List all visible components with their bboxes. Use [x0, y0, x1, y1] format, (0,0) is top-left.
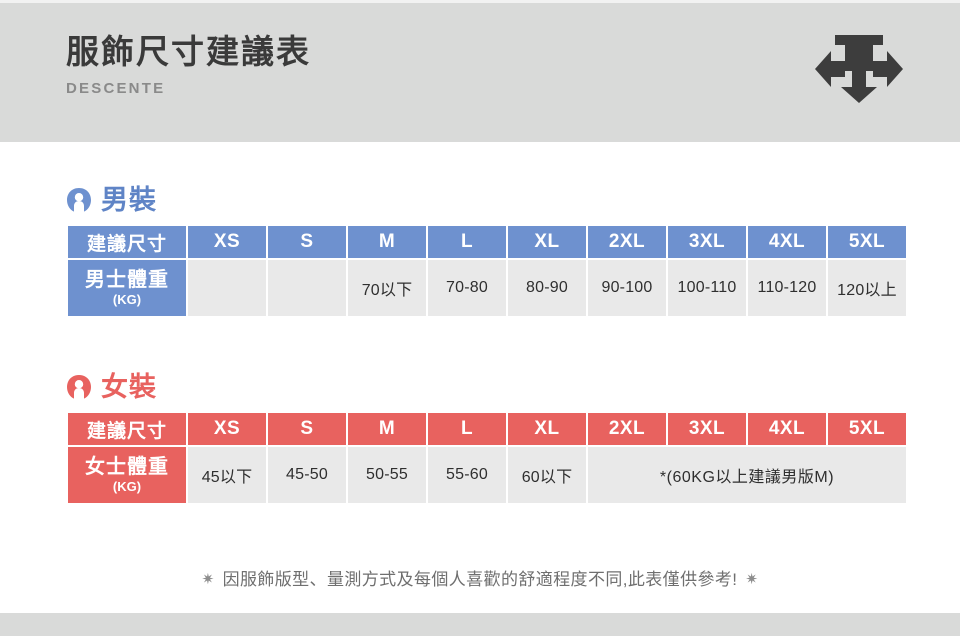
men-value-xs — [188, 260, 266, 316]
women-row-label: 女士體重 (KG) — [68, 447, 186, 503]
men-header-row: 建議尺寸 XS S M L XL 2XL 3XL 4XL 5XL — [68, 226, 906, 258]
header-titles: 服飾尺寸建議表 DESCENTE — [66, 33, 311, 97]
women-row-label-text: 女士體重 — [68, 456, 186, 478]
men-size-header: 建議尺寸 — [68, 226, 186, 258]
women-col-4xl: 4XL — [748, 413, 826, 445]
section-men-label: 男裝 — [101, 187, 157, 214]
women-weight-row: 女士體重 (KG) 45以下 45-50 50-55 55-60 60以下 *(… — [68, 447, 906, 503]
descente-arrows-logo — [813, 31, 905, 103]
size-chart-page: 服飾尺寸建議表 DESCENTE 男裝 — [0, 0, 960, 636]
section-men-header: 男裝 — [66, 182, 894, 218]
women-value-s: 45-50 — [268, 447, 346, 503]
women-col-3xl: 3XL — [668, 413, 746, 445]
women-value-xs: 45以下 — [188, 447, 266, 503]
women-value-xl: 60以下 — [508, 447, 586, 503]
men-value-m: 70以下 — [348, 260, 426, 316]
person-icon — [66, 187, 92, 213]
men-row-label-text: 男士體重 — [68, 269, 186, 291]
women-col-l: L — [428, 413, 506, 445]
women-merged-note: *(60KG以上建議男版M) — [588, 447, 906, 503]
women-size-table: 建議尺寸 XS S M L XL 2XL 3XL 4XL 5XL — [66, 411, 908, 505]
men-col-xl: XL — [508, 226, 586, 258]
men-col-s: S — [268, 226, 346, 258]
men-value-4xl: 110-120 — [748, 260, 826, 316]
women-col-xs: XS — [188, 413, 266, 445]
section-women-header: 女裝 — [66, 369, 894, 405]
section-women-label: 女裝 — [101, 374, 157, 401]
women-size-header: 建議尺寸 — [68, 413, 186, 445]
section-men: 男裝 建議尺寸 XS S M L XL — [66, 182, 894, 318]
asterisk-icon-left: ✷ — [194, 571, 223, 588]
asterisk-icon-right: ✷ — [737, 571, 766, 588]
men-value-2xl: 90-100 — [588, 260, 666, 316]
women-header-row: 建議尺寸 XS S M L XL 2XL 3XL 4XL 5XL — [68, 413, 906, 445]
footer-band — [0, 613, 960, 636]
women-col-s: S — [268, 413, 346, 445]
women-col-2xl: 2XL — [588, 413, 666, 445]
men-row-label: 男士體重 (KG) — [68, 260, 186, 316]
men-col-2xl: 2XL — [588, 226, 666, 258]
women-row-unit: (KG) — [68, 480, 186, 494]
men-col-3xl: 3XL — [668, 226, 746, 258]
footer-note: ✷因服飾版型、量測方式及每個人喜歡的舒適程度不同,此表僅供參考!✷ — [0, 565, 960, 590]
men-col-l: L — [428, 226, 506, 258]
men-col-m: M — [348, 226, 426, 258]
men-col-4xl: 4XL — [748, 226, 826, 258]
women-value-l: 55-60 — [428, 447, 506, 503]
men-value-l: 70-80 — [428, 260, 506, 316]
men-weight-row: 男士體重 (KG) 70以下 70-80 80-90 90-100 100-11… — [68, 260, 906, 316]
footer-note-text: 因服飾版型、量測方式及每個人喜歡的舒適程度不同,此表僅供參考! — [223, 570, 738, 589]
women-col-m: M — [348, 413, 426, 445]
body-area: 男裝 建議尺寸 XS S M L XL — [0, 142, 960, 613]
brand-subtitle: DESCENTE — [66, 80, 311, 97]
women-col-xl: XL — [508, 413, 586, 445]
page-title: 服飾尺寸建議表 — [66, 33, 311, 71]
men-value-5xl: 120以上 — [828, 260, 906, 316]
women-value-m: 50-55 — [348, 447, 426, 503]
men-value-s — [268, 260, 346, 316]
women-col-5xl: 5XL — [828, 413, 906, 445]
men-value-xl: 80-90 — [508, 260, 586, 316]
men-row-unit: (KG) — [68, 293, 186, 307]
person-icon — [66, 374, 92, 400]
section-women: 女裝 建議尺寸 XS S M L XL — [66, 369, 894, 505]
men-value-3xl: 100-110 — [668, 260, 746, 316]
men-size-table: 建議尺寸 XS S M L XL 2XL 3XL 4XL 5XL — [66, 224, 908, 318]
men-col-5xl: 5XL — [828, 226, 906, 258]
header-band: 服飾尺寸建議表 DESCENTE — [0, 0, 960, 142]
men-col-xs: XS — [188, 226, 266, 258]
